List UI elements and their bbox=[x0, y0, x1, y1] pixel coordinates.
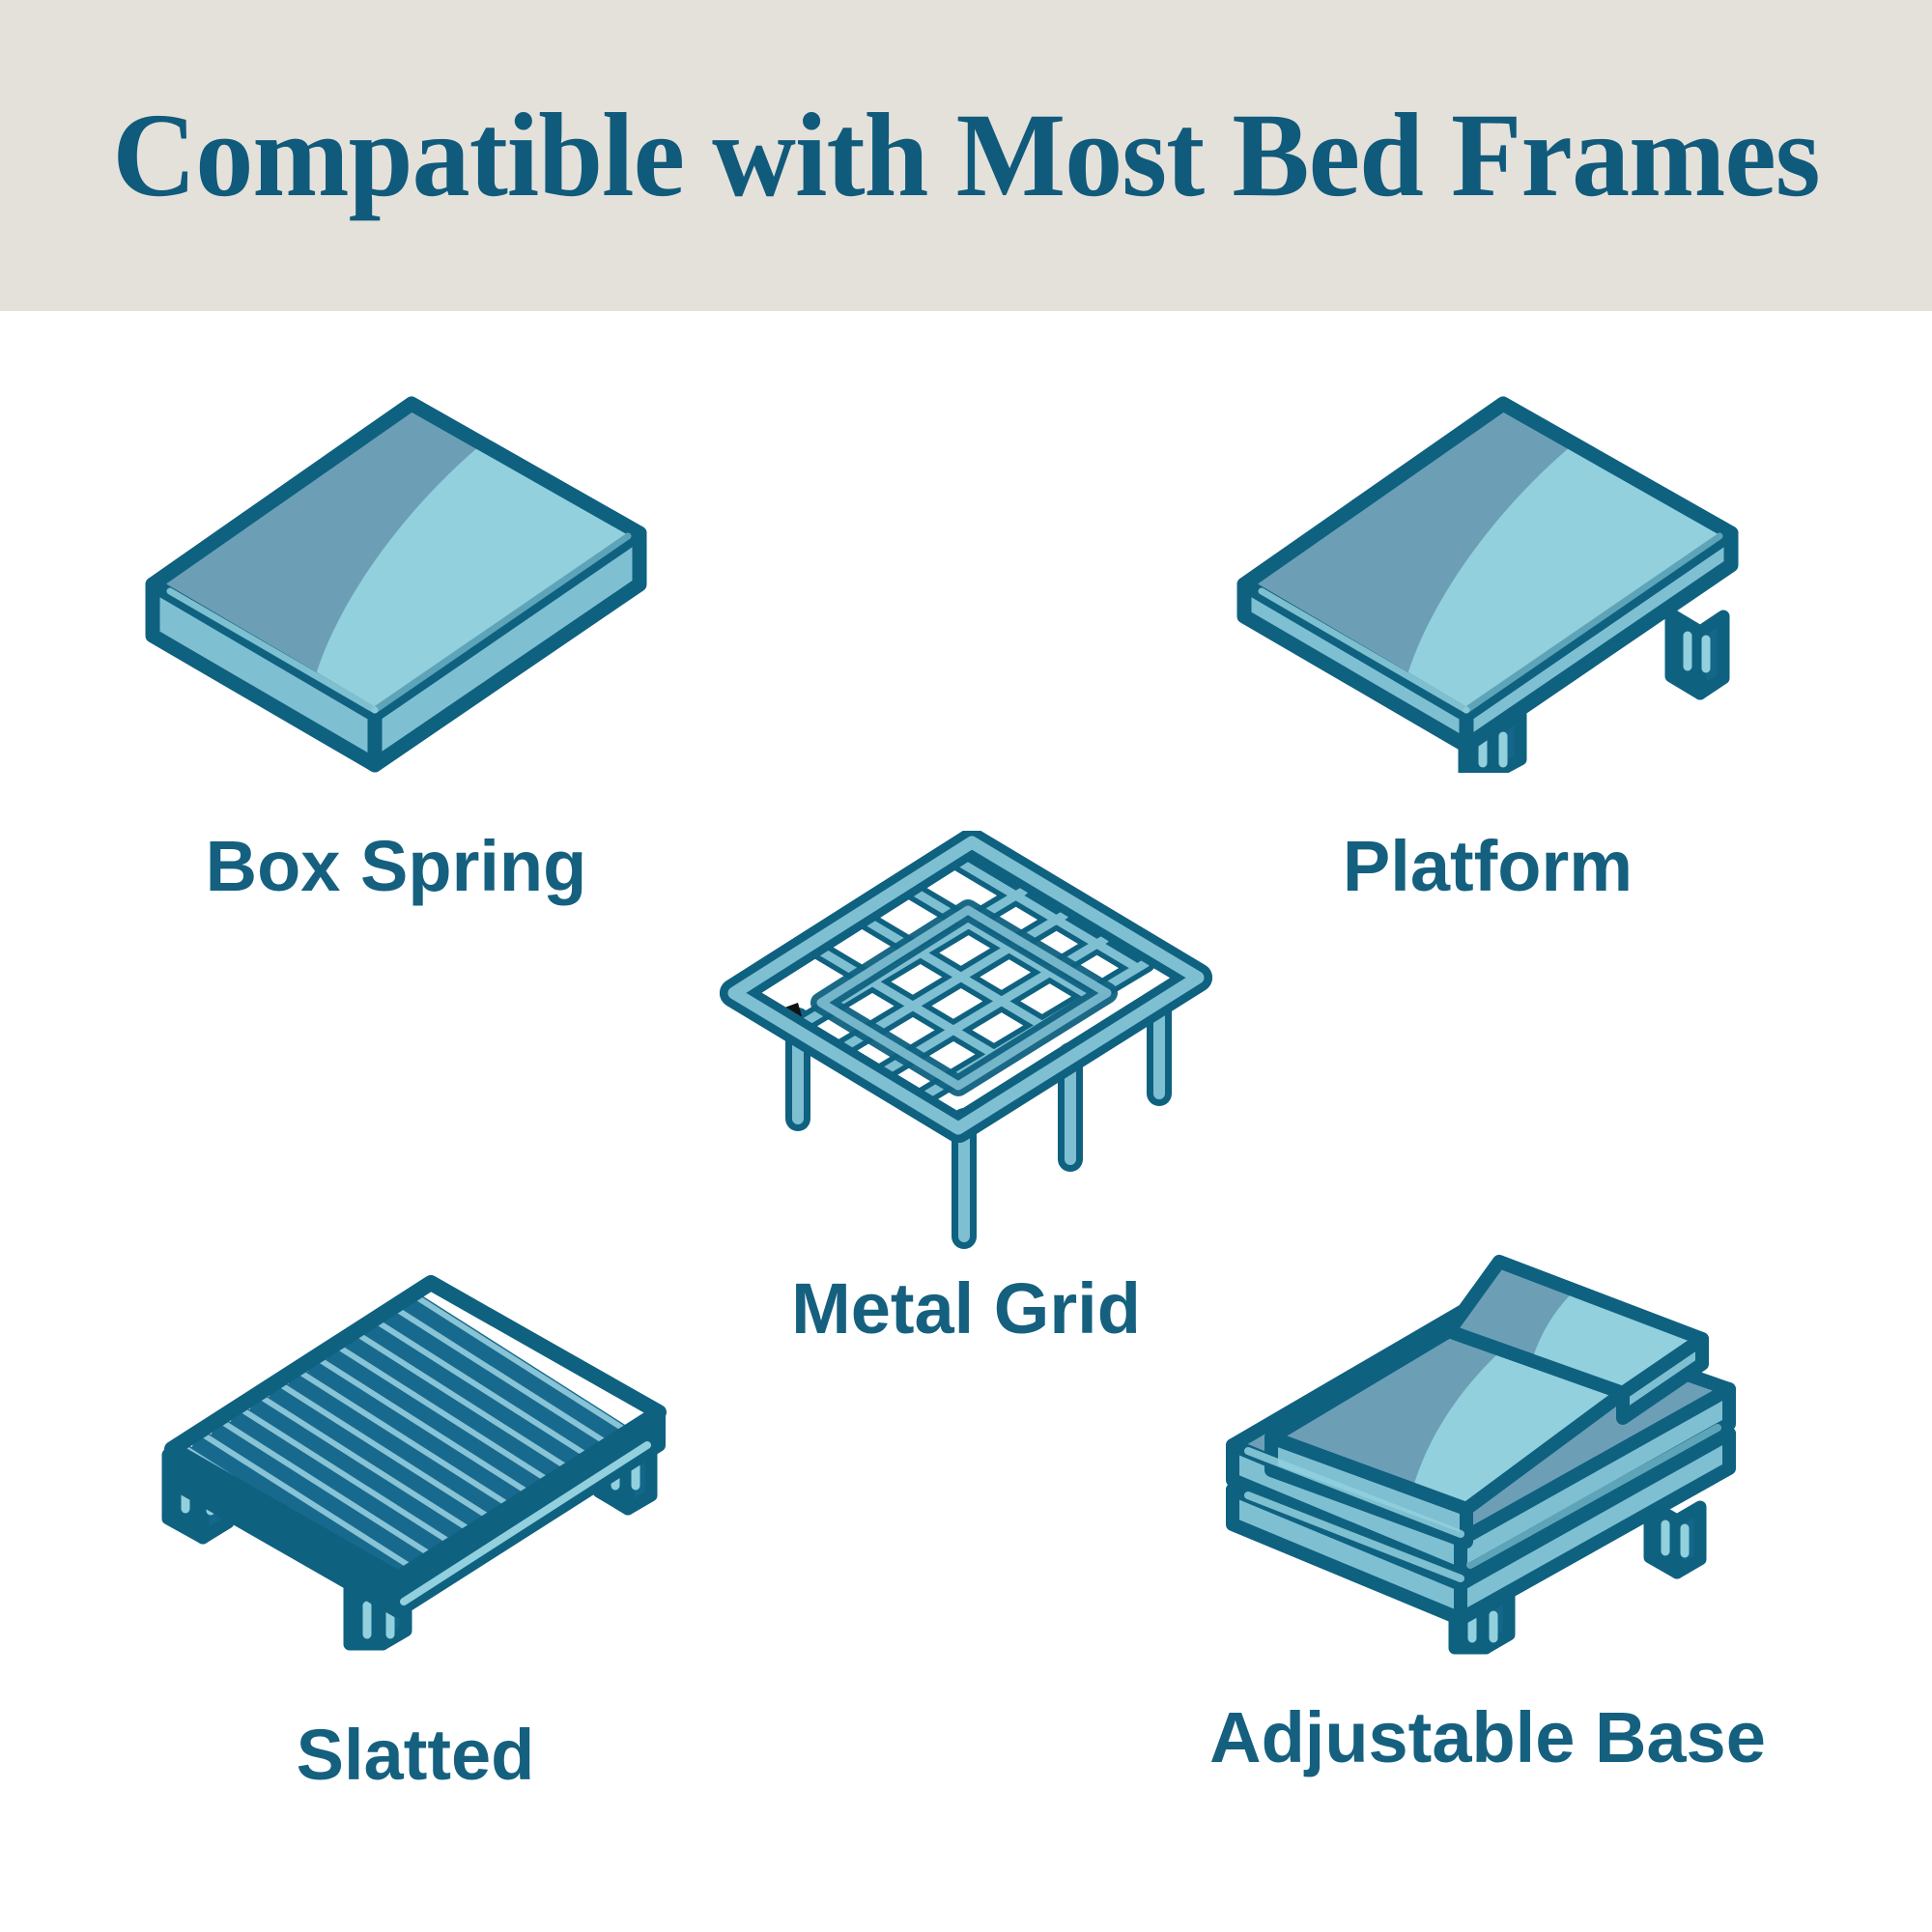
slatted-base-isometric-icon bbox=[145, 1265, 686, 1652]
adjustable-base-isometric-icon bbox=[1207, 1246, 1768, 1662]
item-adjustable-base: Adjustable Base bbox=[1150, 1246, 1826, 1774]
item-label-slatted: Slatted bbox=[297, 1719, 535, 1791]
item-slatted: Slatted bbox=[77, 1265, 753, 1791]
box-spring-isometric-icon bbox=[126, 386, 667, 773]
page-title: Compatible with Most Bed Frames bbox=[112, 96, 1819, 215]
platform-leg-right bbox=[1671, 614, 1723, 694]
infographic-root: Compatible with Most Bed Frames Box Spri… bbox=[0, 0, 1932, 1932]
item-label-box-spring: Box Spring bbox=[206, 831, 587, 902]
item-label-adjustable-base: Adjustable Base bbox=[1209, 1702, 1766, 1774]
platform-bed-isometric-icon bbox=[1217, 386, 1758, 773]
item-label-metal-grid: Metal Grid bbox=[791, 1273, 1141, 1345]
item-box-spring: Box Spring bbox=[58, 386, 734, 902]
header-band: Compatible with Most Bed Frames bbox=[0, 0, 1932, 311]
item-platform: Platform bbox=[1150, 386, 1826, 902]
item-label-platform: Platform bbox=[1343, 831, 1633, 902]
metal-grid-isometric-icon bbox=[705, 831, 1227, 1256]
